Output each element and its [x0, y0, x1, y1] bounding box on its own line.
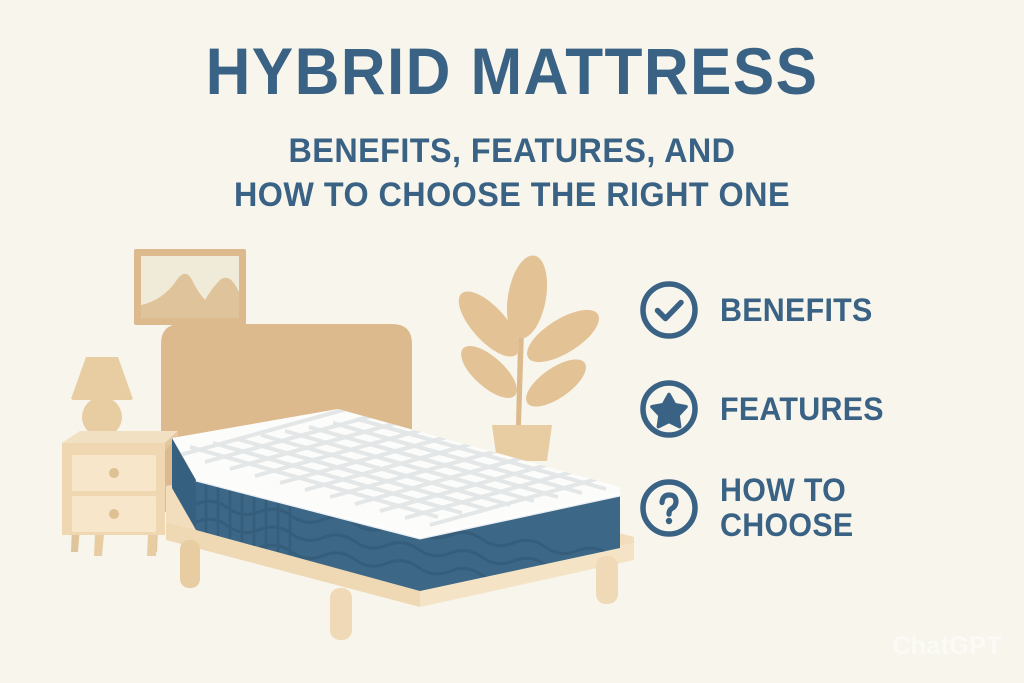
- infographic-canvas: HYBRID MATTRESS BENEFITS, FEATURES, AND …: [0, 0, 1024, 683]
- feature-label-how-to-choose: HOW TO CHOOSE: [720, 473, 853, 542]
- table-lamp: [71, 357, 133, 437]
- nightstand: [62, 431, 178, 556]
- subtitle-block: BENEFITS, FEATURES, AND HOW TO CHOOSE TH…: [0, 130, 1024, 217]
- check-circle-icon: [638, 279, 700, 341]
- mountain-artwork: [141, 274, 239, 318]
- subtitle-line-1: BENEFITS, FEATURES, AND: [26, 130, 999, 174]
- hybrid-mattress: [172, 386, 680, 595]
- bed-headboard: [161, 324, 412, 512]
- feature-label-benefits: BENEFITS: [720, 293, 873, 328]
- bed-frame: [166, 455, 634, 640]
- wall-picture-frame: [134, 249, 246, 325]
- subtitle-line-2: HOW TO CHOOSE THE RIGHT ONE: [26, 174, 999, 218]
- star-circle-icon: [638, 378, 700, 440]
- quilt-grid: [180, 386, 680, 525]
- feature-item-how-to-choose[interactable]: HOW TO CHOOSE: [638, 475, 968, 541]
- feature-label-features: FEATURES: [720, 392, 884, 427]
- feature-list: BENEFITS FEATURES HOW TO CHOOSE: [638, 277, 968, 574]
- question-circle-icon: [638, 477, 700, 539]
- title-block: HYBRID MATTRESS: [0, 38, 1024, 104]
- feature-item-features[interactable]: FEATURES: [638, 376, 968, 442]
- potted-plant: [449, 252, 607, 461]
- feature-item-benefits[interactable]: BENEFITS: [638, 277, 968, 343]
- page-title: HYBRID MATTRESS: [31, 38, 994, 104]
- watermark: ChatGPT: [892, 632, 1002, 661]
